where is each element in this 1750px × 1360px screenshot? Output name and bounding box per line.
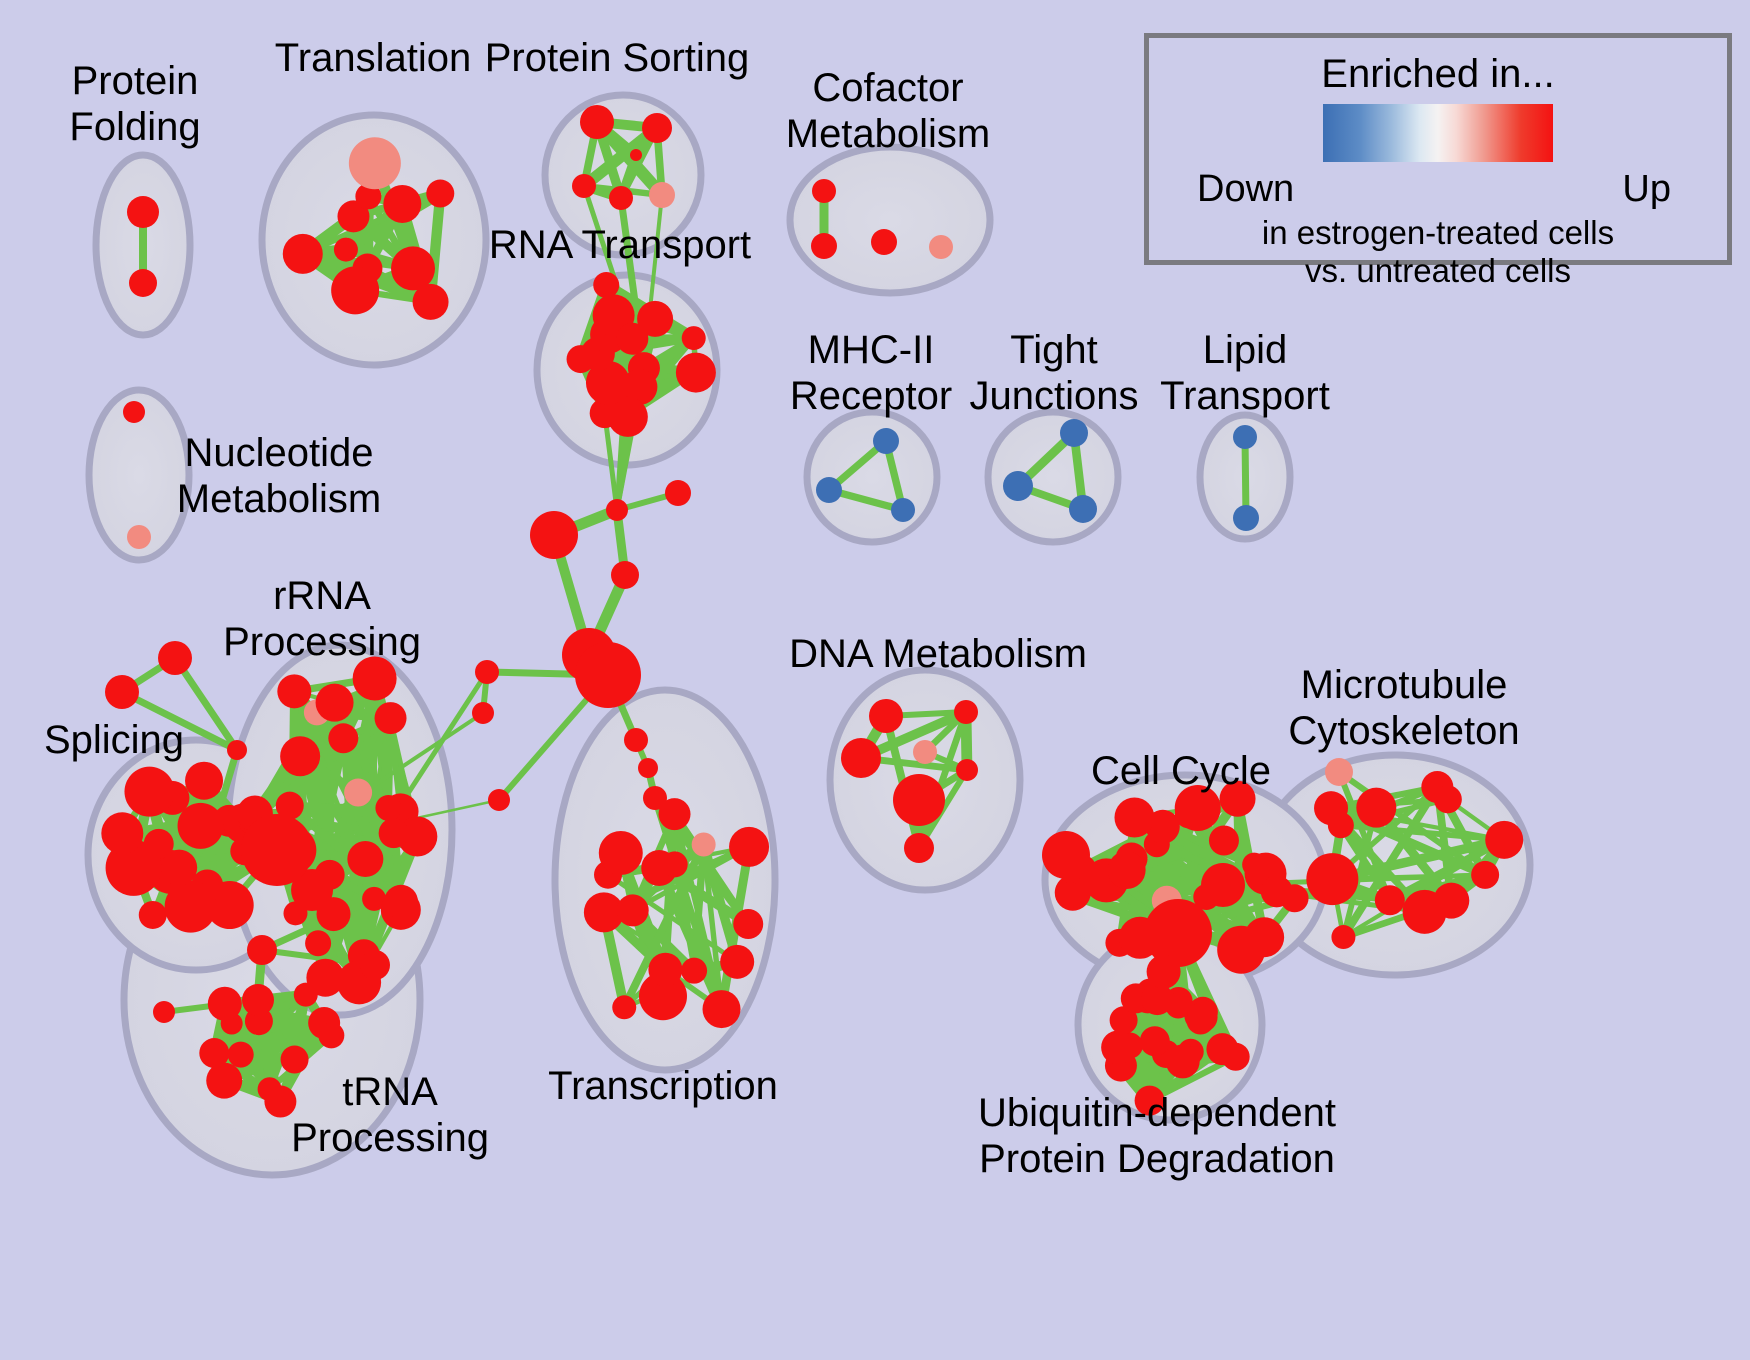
network-node bbox=[331, 266, 379, 314]
network-node bbox=[681, 958, 707, 984]
network-node bbox=[1233, 505, 1259, 531]
network-node bbox=[891, 498, 915, 522]
network-node bbox=[305, 930, 331, 956]
network-node bbox=[606, 499, 628, 521]
network-node bbox=[956, 759, 978, 781]
network-node bbox=[580, 105, 614, 139]
network-node bbox=[153, 1001, 175, 1023]
network-node bbox=[258, 1077, 282, 1101]
network-node bbox=[567, 345, 595, 373]
network-node bbox=[475, 660, 499, 684]
network-node bbox=[599, 831, 643, 875]
cluster-label-trna-processing: tRNAProcessing bbox=[291, 1069, 489, 1161]
network-node bbox=[913, 740, 937, 764]
network-node bbox=[611, 561, 639, 589]
network-node bbox=[624, 728, 648, 752]
network-node bbox=[630, 149, 642, 161]
network-node bbox=[349, 137, 401, 189]
network-node bbox=[638, 758, 658, 778]
network-figure: Enriched in... Down Up in estrogen-treat… bbox=[0, 0, 1750, 1360]
legend-title: Enriched in... bbox=[1149, 52, 1727, 97]
network-node bbox=[227, 740, 247, 760]
network-node bbox=[649, 182, 675, 208]
network-node bbox=[247, 935, 277, 965]
network-node bbox=[375, 795, 401, 821]
network-node bbox=[1485, 821, 1523, 859]
network-node bbox=[729, 827, 769, 867]
network-node bbox=[676, 353, 716, 393]
network-node bbox=[1471, 861, 1499, 889]
network-node bbox=[1281, 884, 1309, 912]
network-node bbox=[816, 477, 842, 503]
network-node bbox=[904, 833, 934, 863]
network-node bbox=[1328, 812, 1354, 838]
network-node bbox=[228, 1042, 254, 1068]
cluster-label-cofactor: CofactorMetabolism bbox=[786, 65, 991, 157]
network-node bbox=[593, 272, 619, 298]
legend-gradient-bar bbox=[1323, 104, 1553, 162]
cluster-label-translation: Translation bbox=[275, 35, 471, 81]
network-node bbox=[1434, 785, 1462, 813]
network-node bbox=[472, 702, 494, 724]
network-node bbox=[344, 779, 372, 807]
network-node bbox=[158, 641, 192, 675]
network-node bbox=[1069, 495, 1097, 523]
network-node bbox=[199, 1038, 229, 1068]
network-node bbox=[929, 235, 953, 259]
legend-subtitle-line1: in estrogen-treated cells bbox=[1149, 214, 1727, 252]
network-node bbox=[1101, 1030, 1135, 1064]
cluster-label-protein-sorting: Protein Sorting bbox=[485, 35, 750, 81]
network-node bbox=[277, 674, 311, 708]
network-node bbox=[383, 185, 421, 223]
network-node bbox=[124, 767, 174, 817]
network-node bbox=[328, 723, 358, 753]
cluster-label-rna-transport: RNA Transport bbox=[489, 222, 751, 268]
network-node bbox=[206, 1063, 242, 1099]
network-node bbox=[665, 480, 691, 506]
network-node bbox=[426, 180, 454, 208]
network-node bbox=[1209, 826, 1239, 856]
network-node bbox=[1060, 419, 1088, 447]
network-node bbox=[1206, 1033, 1238, 1065]
network-node bbox=[659, 798, 691, 830]
network-node bbox=[612, 995, 636, 1019]
network-node bbox=[1057, 882, 1083, 908]
network-node bbox=[1375, 885, 1405, 915]
network-node bbox=[811, 233, 837, 259]
network-node bbox=[637, 301, 673, 337]
network-node bbox=[703, 990, 741, 1028]
legend-high-label: Up bbox=[1622, 168, 1671, 211]
network-node bbox=[575, 642, 641, 708]
network-node bbox=[1114, 798, 1154, 838]
network-node bbox=[1108, 851, 1146, 889]
network-node bbox=[318, 1022, 344, 1048]
network-node bbox=[720, 945, 754, 979]
cluster-label-ubiquitin: Ubiquitin-dependentProtein Degradation bbox=[978, 1090, 1336, 1182]
cluster-label-lipid-transport: LipidTransport bbox=[1160, 327, 1330, 419]
network-node bbox=[280, 736, 320, 776]
cluster-label-cell-cycle: Cell Cycle bbox=[1091, 748, 1271, 794]
network-node bbox=[283, 234, 323, 274]
legend-low-label: Down bbox=[1197, 168, 1294, 211]
network-node bbox=[1003, 471, 1033, 501]
network-node bbox=[893, 774, 945, 826]
network-node bbox=[241, 814, 313, 886]
network-node bbox=[1217, 926, 1265, 974]
network-node bbox=[360, 950, 390, 980]
network-node bbox=[662, 851, 688, 877]
network-node bbox=[1403, 890, 1447, 934]
network-node bbox=[384, 885, 418, 919]
cluster-label-mhc-ii: MHC-IIReceptor bbox=[790, 327, 952, 419]
cluster-label-microtubule: MicrotubuleCytoskeleton bbox=[1288, 662, 1519, 754]
cluster-label-protein-folding: ProteinFolding bbox=[69, 58, 200, 150]
cluster-label-dna-metabolism: DNA Metabolism bbox=[789, 631, 1087, 677]
cluster-label-splicing: Splicing bbox=[44, 717, 184, 763]
network-node bbox=[1306, 853, 1358, 905]
network-node bbox=[530, 511, 578, 559]
network-node bbox=[1144, 899, 1212, 967]
network-node bbox=[242, 984, 274, 1016]
network-node bbox=[1140, 1026, 1170, 1056]
network-node bbox=[127, 525, 151, 549]
network-node bbox=[139, 901, 167, 929]
network-node bbox=[144, 829, 174, 859]
network-node bbox=[841, 738, 881, 778]
cluster-label-nucleotide: NucleotideMetabolism bbox=[177, 430, 382, 522]
network-node bbox=[812, 179, 836, 203]
cluster-label-rrna-processing: rRNAProcessing bbox=[223, 573, 421, 665]
network-node bbox=[871, 229, 897, 255]
cluster-label-tight-junctions: TightJunctions bbox=[970, 327, 1139, 419]
network-node bbox=[609, 186, 633, 210]
network-node bbox=[1147, 955, 1181, 989]
network-node bbox=[208, 987, 242, 1021]
network-node bbox=[294, 983, 318, 1007]
cluster-label-transcription: Transcription bbox=[548, 1063, 778, 1109]
network-node bbox=[869, 699, 903, 733]
network-node bbox=[334, 238, 358, 262]
network-node bbox=[648, 953, 682, 987]
network-node bbox=[391, 246, 435, 290]
cluster-region-mhc-ii bbox=[807, 412, 937, 542]
network-node bbox=[954, 700, 978, 724]
color-legend: Enriched in... Down Up in estrogen-treat… bbox=[1144, 33, 1732, 265]
network-node bbox=[617, 894, 649, 926]
network-node bbox=[283, 901, 307, 925]
network-node bbox=[1233, 425, 1257, 449]
network-node bbox=[105, 675, 139, 709]
network-node bbox=[375, 702, 407, 734]
network-node bbox=[1188, 1002, 1218, 1032]
network-node bbox=[1356, 788, 1396, 828]
network-node bbox=[642, 113, 672, 143]
network-node bbox=[1201, 863, 1245, 907]
network-node bbox=[101, 812, 143, 854]
network-node bbox=[733, 909, 763, 939]
legend-subtitle-line2: vs. untreated cells bbox=[1149, 252, 1727, 290]
network-node bbox=[347, 841, 383, 877]
network-node bbox=[129, 269, 157, 297]
network-node bbox=[123, 401, 145, 423]
network-node bbox=[682, 326, 706, 350]
network-node bbox=[1325, 758, 1353, 786]
network-node bbox=[316, 684, 354, 722]
network-node bbox=[873, 428, 899, 454]
network-node bbox=[379, 818, 409, 848]
network-node bbox=[692, 833, 716, 857]
network-node bbox=[1331, 925, 1355, 949]
network-node bbox=[127, 196, 159, 228]
network-node bbox=[572, 174, 596, 198]
network-node bbox=[185, 762, 223, 800]
network-node bbox=[488, 789, 510, 811]
network-node bbox=[1042, 831, 1090, 879]
